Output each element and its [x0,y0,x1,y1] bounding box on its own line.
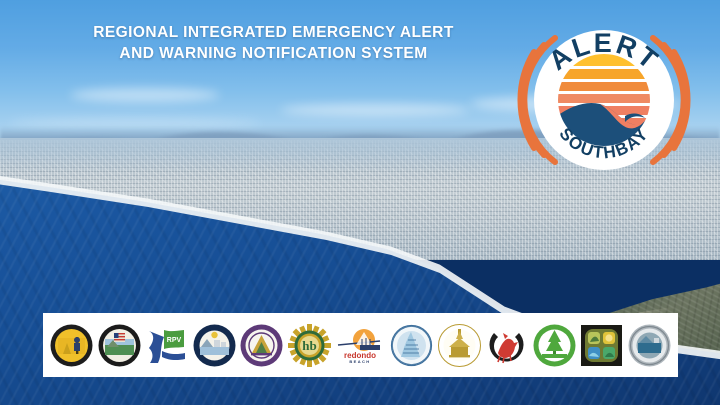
seal-city-of-lomita [49,323,94,368]
cloud-wisp [280,104,470,116]
seal-rolling-hills-estates [532,323,577,368]
page-title-line-1: REGIONAL INTEGRATED EMERGENCY ALERT [46,22,501,43]
alert-southbay-logo: ALERT SOUTHBAY [508,12,698,180]
svg-text:RPV: RPV [167,337,182,344]
seal-city-of-gardena [627,323,672,368]
cloud-wisp [70,88,220,102]
seal-city-of-palos-verdes [437,323,482,368]
partner-city-seals-strip: RPV [43,313,678,377]
seal-redondo-beach: redondo BEACH [334,323,386,368]
seal-manhattan-beach [389,323,434,368]
seal-rancho-palos-verdes: RPV [144,323,189,368]
page-title: REGIONAL INTEGRATED EMERGENCY ALERT AND … [46,22,501,64]
svg-text:BEACH: BEACH [350,359,371,364]
seal-city-of-carson [97,323,142,368]
svg-text:hb: hb [302,338,316,353]
page-title-line-2: AND WARNING NOTIFICATION SYSTEM [46,43,501,64]
seal-city-of-rolling-hills [484,323,529,368]
slide-canvas: REGIONAL INTEGRATED EMERGENCY ALERT AND … [0,0,720,405]
seal-city-of-el-segundo [192,323,237,368]
seal-palos-verdes-estates [239,323,284,368]
seal-city-of-torrance [579,323,624,368]
seal-city-of-hermosa-beach: hb [287,323,332,368]
